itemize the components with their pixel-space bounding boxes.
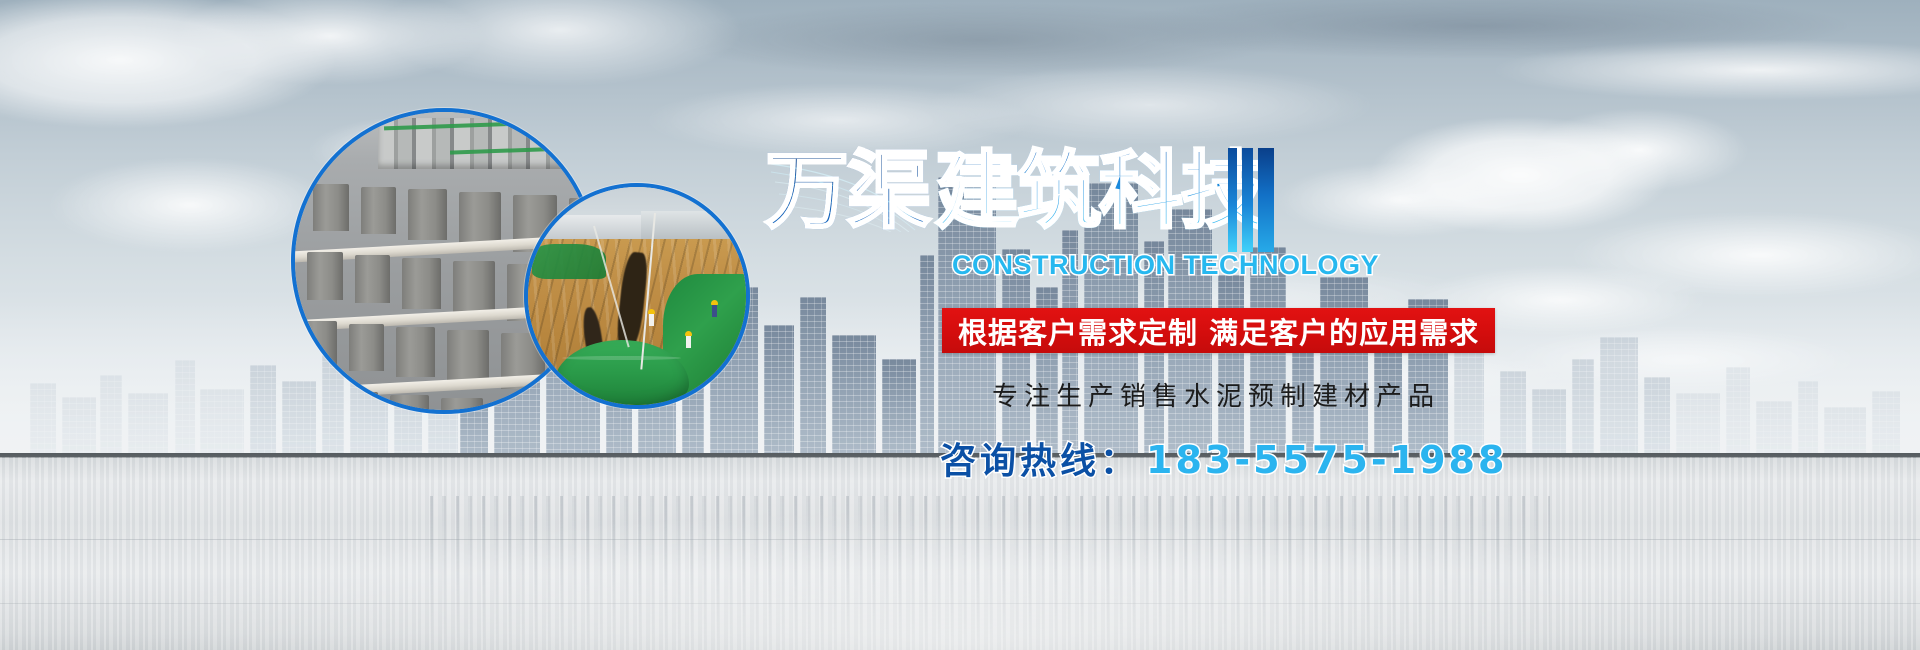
worker-figure-3: [685, 331, 692, 348]
green-tarp-upper: [532, 244, 606, 279]
hotline: 咨询热线： 183-5575-1988: [940, 432, 1507, 484]
site-building-2: [641, 211, 746, 239]
circle-photo-construction-site: [524, 183, 750, 409]
english-subtitle: CONSTRUCTION TECHNOLOGY: [952, 250, 1379, 281]
brand-name-secondary: 建筑科技: [935, 148, 1263, 234]
decor-bar-1: [1228, 148, 1237, 252]
worker-figure-2: [711, 300, 718, 317]
tank-band: [562, 356, 681, 360]
worker-figure: [648, 309, 655, 326]
red-ribbon: 根据客户需求定制 满足客户的应用需求: [942, 308, 1495, 353]
hotline-label: 咨询热线：: [940, 432, 1140, 484]
brand-name-primary: 万渠: [765, 148, 929, 234]
promo-banner: 万渠 建筑科技 CONSTRUCTION TECHNOLOGY 根据客户需求定制…: [0, 0, 1920, 650]
ribbon-text: 根据客户需求定制 满足客户的应用需求: [958, 310, 1479, 352]
brand-name-line: 万渠 建筑科技: [765, 138, 1285, 234]
decor-bar-3: [1258, 148, 1274, 252]
hotline-number[interactable]: 183-5575-1988: [1146, 438, 1507, 482]
construction-site-septic-tank-photo: [528, 187, 746, 405]
decorative-bars: [1228, 148, 1274, 252]
brand-logotype: 万渠 建筑科技: [765, 138, 1285, 258]
decor-bar-2: [1242, 148, 1253, 252]
tagline: 专注生产销售水泥预制建材产品: [992, 376, 1440, 413]
